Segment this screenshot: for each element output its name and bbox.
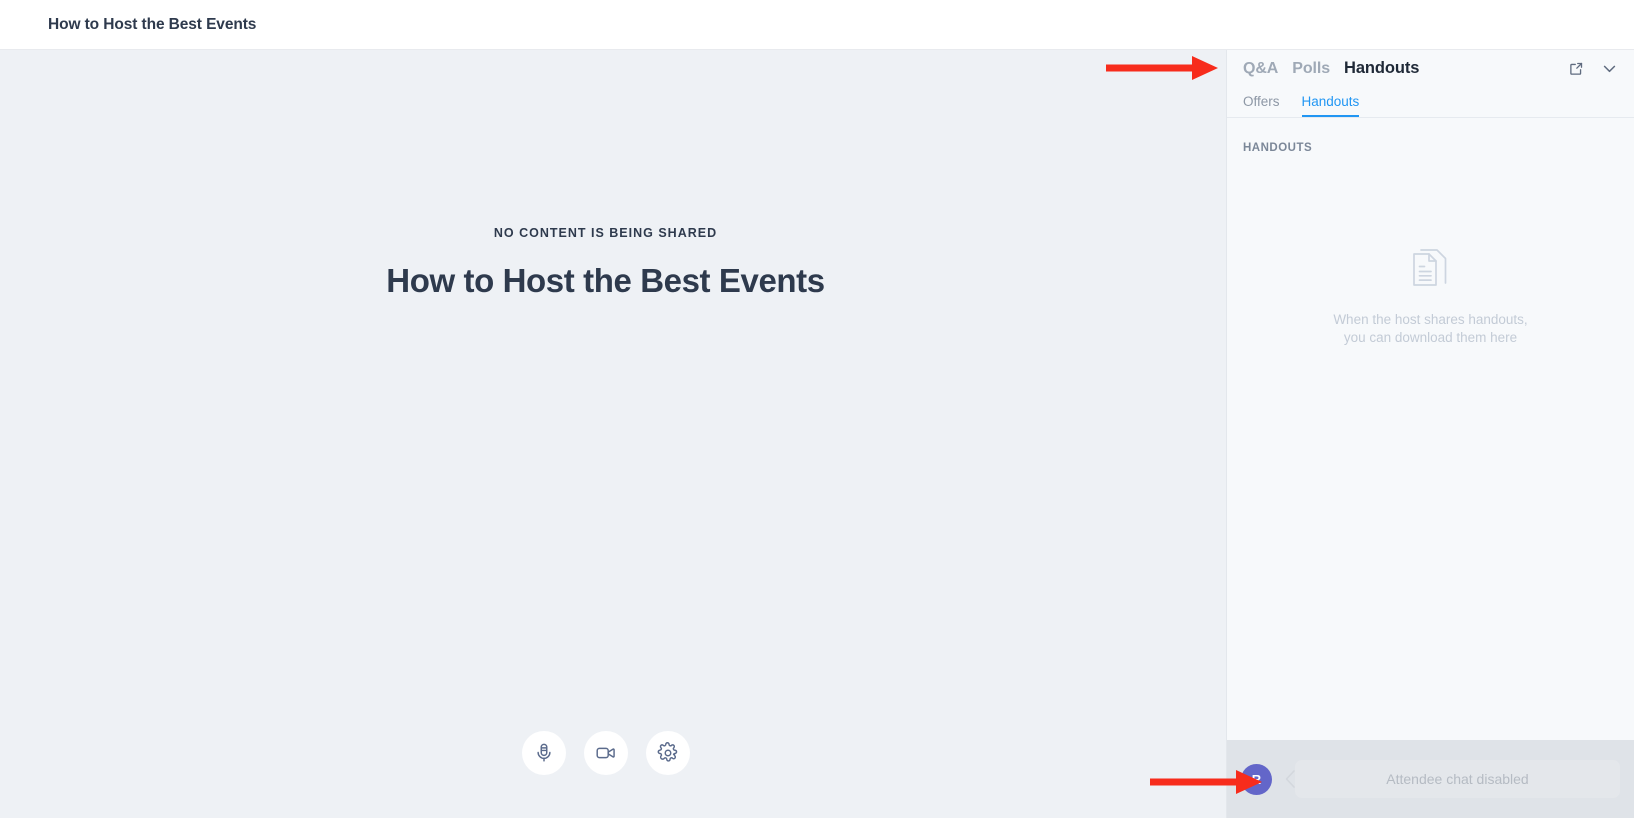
panel-tab-qa[interactable]: Q&A <box>1243 60 1278 78</box>
shared-content-stage: NO CONTENT IS BEING SHARED How to Host t… <box>0 50 1211 818</box>
stage-eyebrow: NO CONTENT IS BEING SHARED <box>0 226 1211 240</box>
panel-tab-handouts[interactable]: Handouts <box>1344 59 1419 78</box>
popout-icon[interactable] <box>1569 61 1584 76</box>
handouts-empty-line-2: you can download them here <box>1227 329 1634 347</box>
stage-toolbar <box>0 731 1211 775</box>
handouts-empty-text: When the host shares handouts, you can d… <box>1227 311 1634 346</box>
panel-gutter <box>1211 50 1227 818</box>
panel-tab-polls[interactable]: Polls <box>1292 60 1330 78</box>
panel-body: HANDOUTS When <box>1227 118 1634 740</box>
microphone-icon <box>533 742 555 764</box>
side-panel: Q&A Polls Handouts <box>1211 50 1634 818</box>
panel-sub-tabs: Offers Handouts <box>1227 87 1634 118</box>
handouts-empty-line-1: When the host shares handouts, <box>1227 311 1634 329</box>
panel-primary-tabs: Q&A Polls Handouts <box>1243 59 1569 78</box>
gear-icon <box>657 742 679 764</box>
document-pages-icon <box>1227 248 1634 294</box>
stage-empty-message: NO CONTENT IS BEING SHARED How to Host t… <box>0 226 1211 300</box>
page-title: How to Host the Best Events <box>48 16 256 34</box>
chevron-down-icon[interactable] <box>1601 60 1618 77</box>
panel-inner: Q&A Polls Handouts <box>1227 50 1634 818</box>
camera-button[interactable] <box>584 731 628 775</box>
webinar-attendee-window: How to Host the Best Events NO CONTENT I… <box>0 0 1634 818</box>
chat-input[interactable] <box>1295 760 1620 798</box>
avatar: R <box>1241 764 1272 795</box>
sub-tab-handouts[interactable]: Handouts <box>1302 95 1360 118</box>
settings-button[interactable] <box>646 731 690 775</box>
panel-header-actions <box>1569 60 1618 77</box>
handouts-empty-state: When the host shares handouts, you can d… <box>1227 248 1634 346</box>
sub-tab-offers[interactable]: Offers <box>1243 95 1280 118</box>
top-bar: How to Host the Best Events <box>0 0 1634 50</box>
stage-heading: How to Host the Best Events <box>0 262 1211 300</box>
chat-bubble-wrap <box>1285 752 1620 806</box>
chat-composer: R <box>1227 740 1634 818</box>
microphone-button[interactable] <box>522 731 566 775</box>
panel-header: Q&A Polls Handouts <box>1227 50 1634 87</box>
handouts-section-label: HANDOUTS <box>1243 142 1312 154</box>
speech-bubble-tail-icon <box>1285 769 1296 789</box>
video-camera-icon <box>595 742 617 764</box>
